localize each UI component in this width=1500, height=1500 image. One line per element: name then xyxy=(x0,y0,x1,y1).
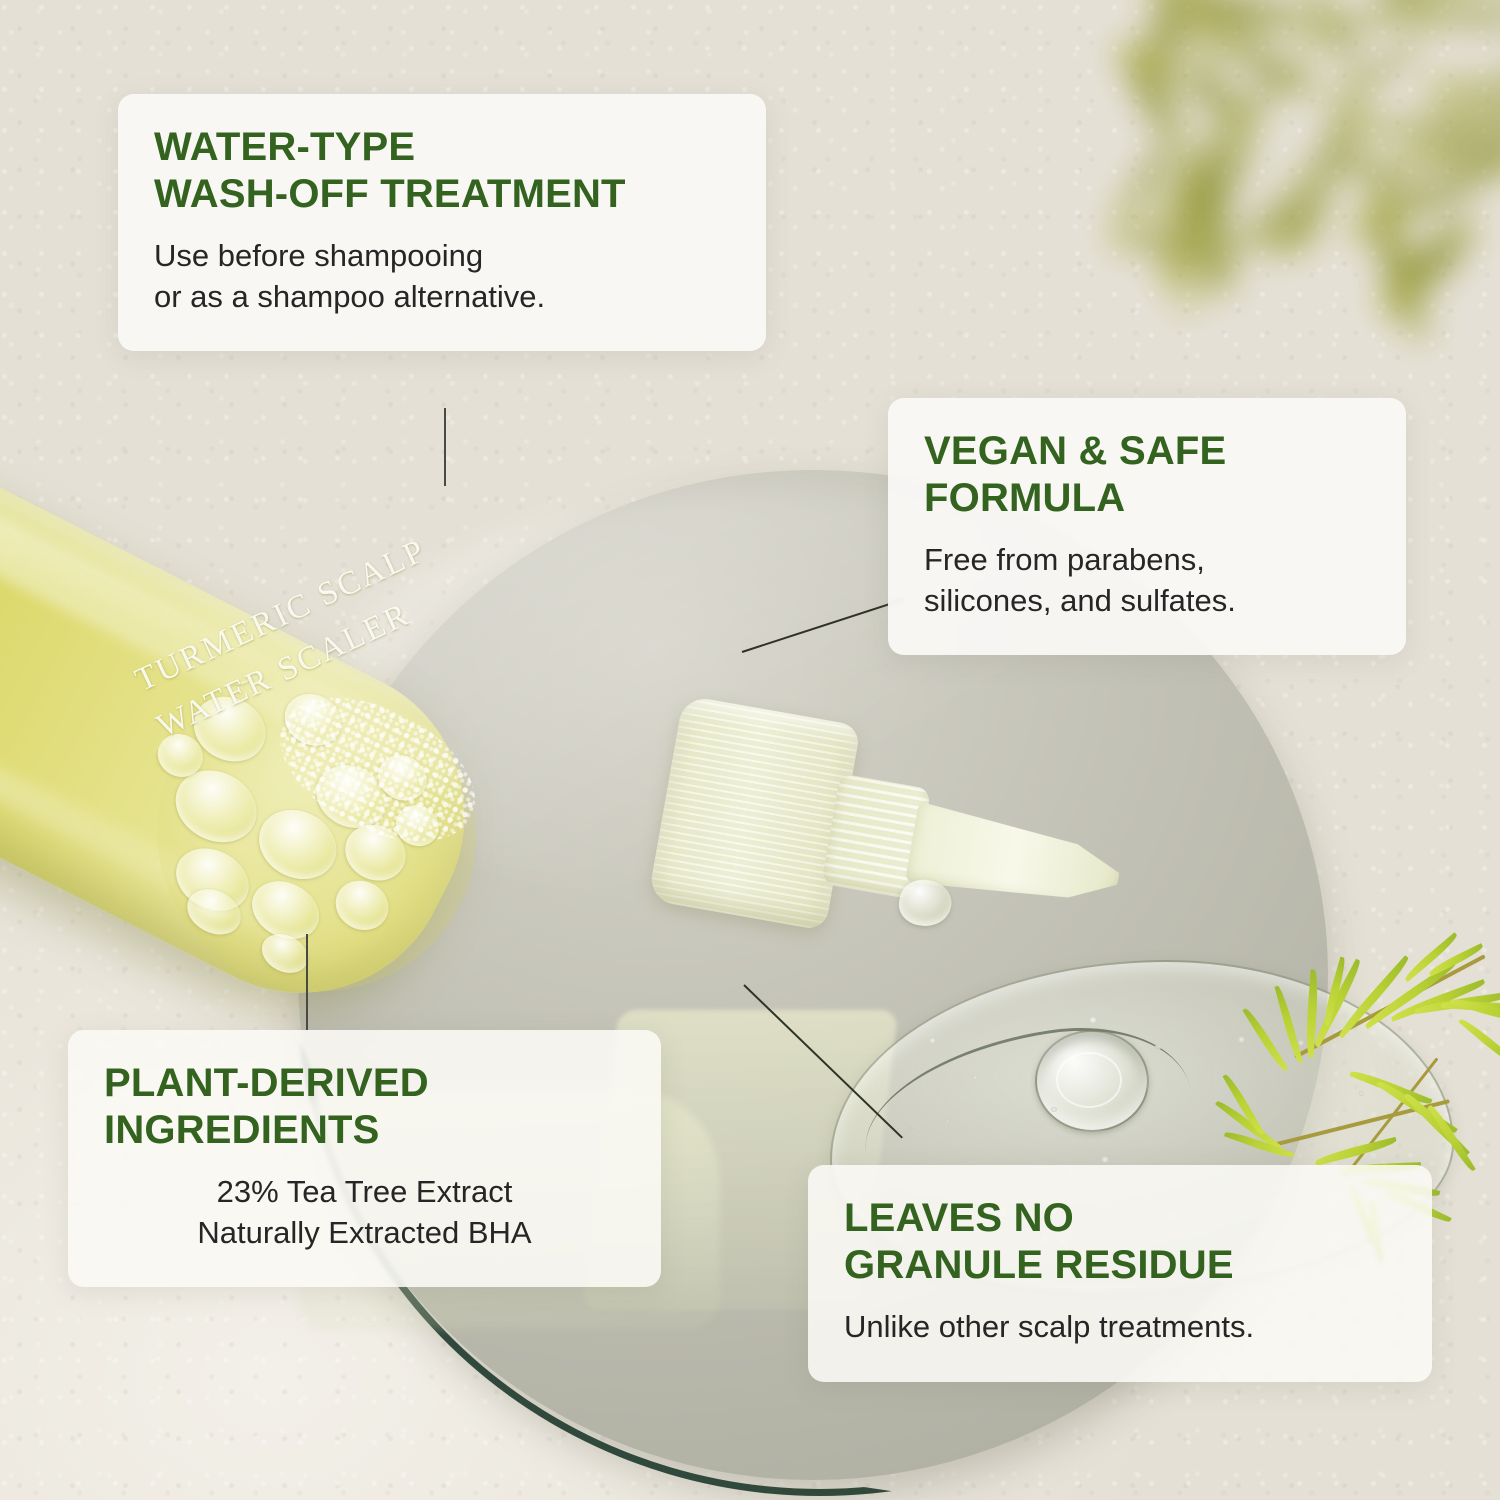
micro-bubble xyxy=(1089,1016,1097,1024)
sprig-needle xyxy=(1274,985,1302,1064)
foliage-leaf xyxy=(1396,135,1500,171)
sprig-needle xyxy=(1428,1103,1476,1173)
body-line: Naturally Extracted BHA xyxy=(104,1213,625,1253)
body-line: 23% Tea Tree Extract xyxy=(104,1172,625,1212)
feature-card-no-residue[interactable]: LEAVES NO GRANULE RESIDUE Unlike other s… xyxy=(808,1165,1432,1382)
feature-card-title: VEGAN & SAFE FORMULA xyxy=(924,428,1370,522)
title-line: INGREDIENTS xyxy=(104,1107,625,1154)
foliage-leaf xyxy=(1423,74,1500,103)
title-line: VEGAN & SAFE xyxy=(924,428,1370,475)
title-line: WASH-OFF TREATMENT xyxy=(154,171,730,218)
feature-card-title: WATER-TYPE WASH-OFF TREATMENT xyxy=(154,124,730,218)
feature-card-body: 23% Tea Tree Extract Naturally Extracted… xyxy=(104,1172,625,1253)
micro-bubble xyxy=(929,1037,936,1044)
feature-card-water-type[interactable]: WATER-TYPE WASH-OFF TREATMENT Use before… xyxy=(118,94,766,351)
micro-bubble xyxy=(909,1127,912,1130)
title-line: PLANT-DERIVED xyxy=(104,1060,625,1107)
title-line: WATER-TYPE xyxy=(154,124,730,171)
body-line: Use before shampooing xyxy=(154,236,730,276)
blurred-foliage-decoration xyxy=(900,0,1500,370)
gel-bubble-inner-ring xyxy=(1056,1052,1122,1108)
connector-line-water-type xyxy=(444,408,446,486)
feature-card-body: Use before shampooing or as a shampoo al… xyxy=(154,236,730,317)
feature-card-body: Free from parabens, silicones, and sulfa… xyxy=(924,540,1370,621)
micro-bubble xyxy=(945,1119,950,1124)
feature-card-vegan-safe[interactable]: VEGAN & SAFE FORMULA Free from parabens,… xyxy=(888,398,1406,655)
feature-card-title: PLANT-DERIVED INGREDIENTS xyxy=(104,1060,625,1154)
sprig-needle xyxy=(1458,1016,1500,1070)
body-line: silicones, and sulfates. xyxy=(924,581,1370,621)
foam-bubble xyxy=(327,872,397,939)
micro-bubble xyxy=(1101,1156,1108,1163)
title-line: GRANULE RESIDUE xyxy=(844,1242,1396,1289)
connector-line-plant-derived xyxy=(306,934,308,1030)
infographic-canvas: Curcuma Longa (Turmeric) Root Extract, W… xyxy=(0,0,1500,1500)
title-line: FORMULA xyxy=(924,475,1370,522)
body-line: Unlike other scalp treatments. xyxy=(844,1307,1396,1347)
micro-bubble xyxy=(1238,1036,1245,1043)
micro-bubble xyxy=(972,1075,977,1080)
body-line: or as a shampoo alternative. xyxy=(154,277,730,317)
feature-card-body: Unlike other scalp treatments. xyxy=(844,1307,1396,1347)
title-line: LEAVES NO xyxy=(844,1195,1396,1242)
feature-card-plant-derived[interactable]: PLANT-DERIVED INGREDIENTS 23% Tea Tree E… xyxy=(68,1030,661,1287)
feature-card-title: LEAVES NO GRANULE RESIDUE xyxy=(844,1195,1396,1289)
body-line: Free from parabens, xyxy=(924,540,1370,580)
nozzle-cap xyxy=(648,695,861,931)
